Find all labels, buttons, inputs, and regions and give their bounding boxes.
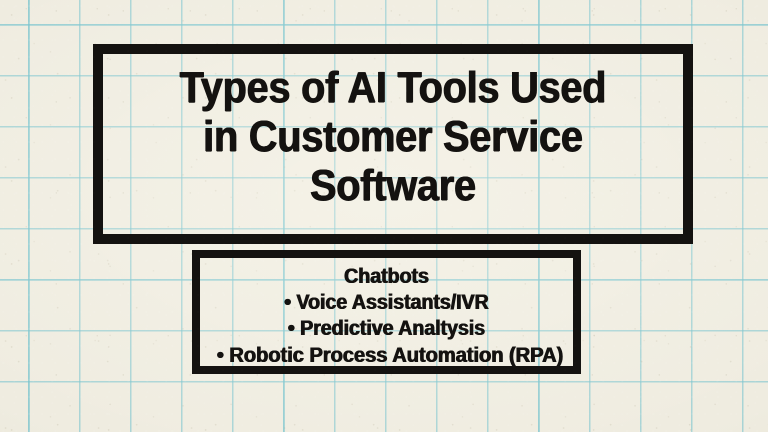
- title-frame: Types of AI Tools Used in Customer Servi…: [93, 44, 693, 244]
- list-item: • Robotic Process Automation (RPA): [217, 342, 556, 368]
- title-line-3: Software: [141, 161, 645, 210]
- tool-type-list: Chatbots • Voice Assistants/IVR • Predic…: [211, 258, 562, 368]
- page-title: Types of AI Tools Used in Customer Servi…: [132, 54, 654, 210]
- title-line-2: in Customer Service: [141, 112, 645, 161]
- list-item: • Voice Assistants/IVR: [217, 290, 556, 316]
- list-item: Chatbots: [217, 264, 556, 290]
- list-frame: Chatbots • Voice Assistants/IVR • Predic…: [192, 250, 581, 374]
- list-item: • Predictive Analtysis: [217, 316, 556, 342]
- title-line-1: Types of AI Tools Used: [141, 63, 645, 112]
- poster-canvas: Types of AI Tools Used in Customer Servi…: [0, 0, 768, 432]
